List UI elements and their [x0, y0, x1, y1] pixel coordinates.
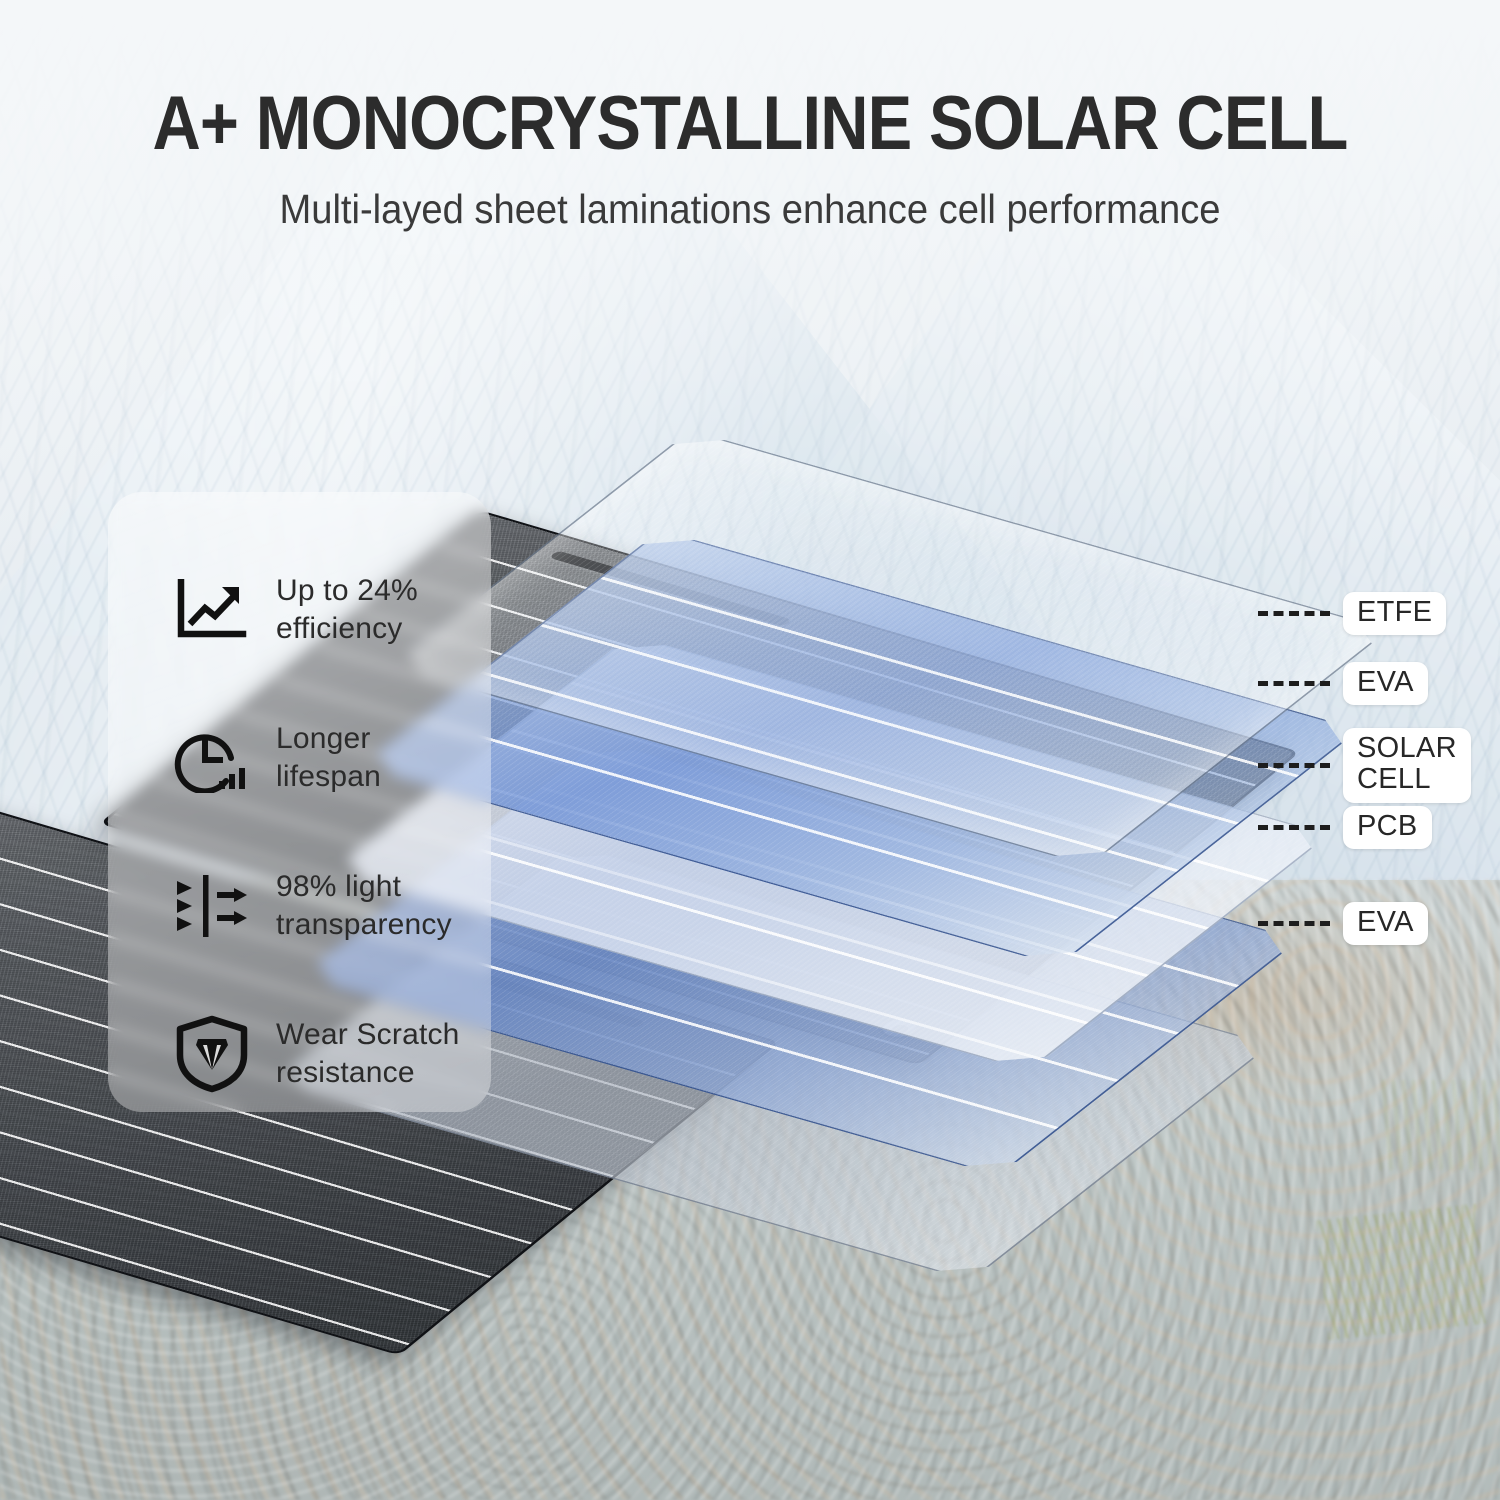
leader-line-icon [1258, 921, 1330, 926]
leader-line-icon [1258, 763, 1330, 768]
leader-line-icon [1258, 611, 1330, 616]
callout-solar-cell: SOLAR CELL [1258, 728, 1471, 803]
page-title: A+ MONOCRYSTALLINE SOLAR CELL [90, 86, 1410, 162]
label-eva-top: EVA [1343, 662, 1428, 705]
leader-line-icon [1258, 681, 1330, 686]
callout-eva-bottom: EVA [1258, 902, 1428, 945]
page-subtitle: Multi-layed sheet laminations enhance ce… [53, 186, 1448, 233]
label-solar-cell: SOLAR CELL [1343, 728, 1471, 803]
header: A+ MONOCRYSTALLINE SOLAR CELL Multi-laye… [0, 0, 1500, 233]
callout-eva-top: EVA [1258, 662, 1428, 705]
leader-line-icon [1258, 825, 1330, 830]
label-etfe: ETFE [1343, 592, 1446, 635]
callout-etfe: ETFE [1258, 592, 1446, 635]
label-eva-bottom: EVA [1343, 902, 1428, 945]
callout-pcb: PCB [1258, 806, 1432, 849]
label-pcb: PCB [1343, 806, 1432, 849]
